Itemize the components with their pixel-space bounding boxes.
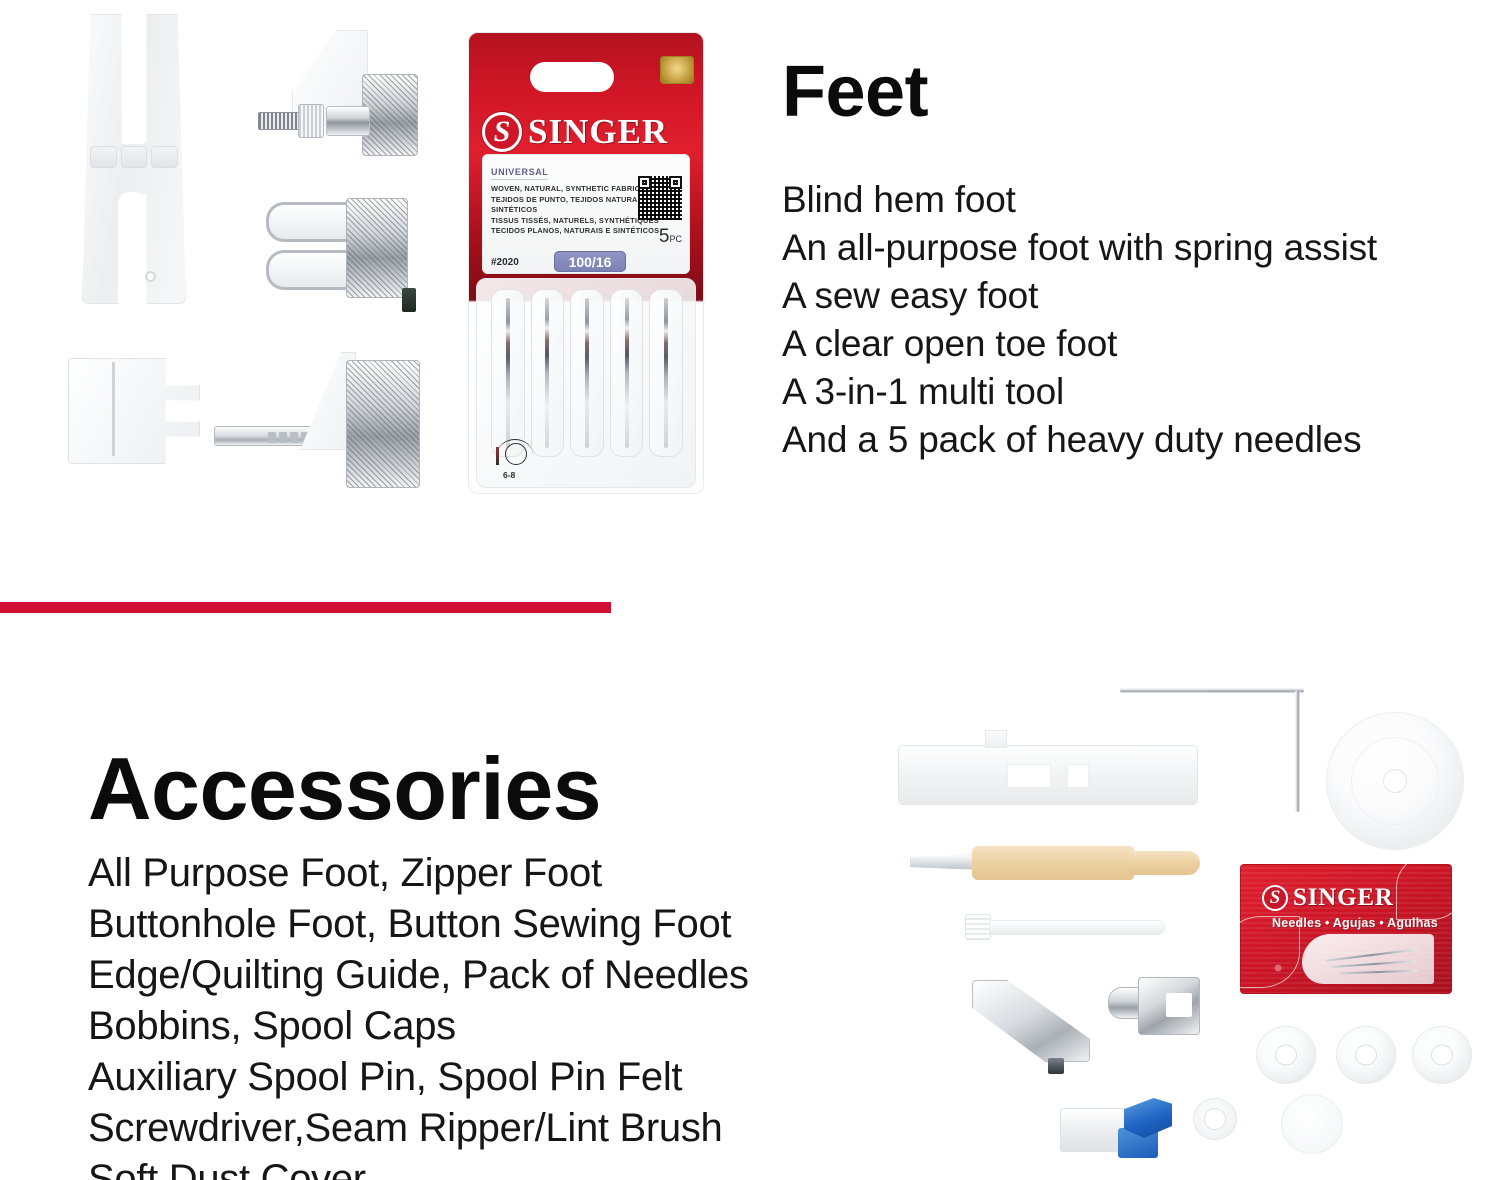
- buttonhole-foot-tab: [985, 730, 1007, 748]
- feet-section: Feet: [782, 56, 928, 128]
- envelope-subtitle: Needles • Agujas • Agulhas: [1272, 916, 1438, 930]
- feet-title: Feet: [782, 56, 928, 128]
- accessories-list-item: Buttonhole Foot, Button Sewing Foot: [88, 899, 749, 950]
- spool-pin-image: [1208, 686, 1304, 818]
- blind-hem-guide-screw: [402, 288, 416, 312]
- needle-image: [545, 298, 549, 448]
- screwdriver-handle: [972, 846, 1134, 880]
- feet-list-item: And a 5 pack of heavy duty needles: [782, 416, 1377, 464]
- qr-code-icon: [638, 176, 682, 220]
- speed-icon-label: 6-8: [503, 470, 515, 480]
- buttonhole-foot-image: [898, 745, 1198, 805]
- accessories-section: Accessories: [88, 745, 601, 833]
- spring-foot-shank: [326, 106, 370, 136]
- singer-s-mark: S: [1262, 885, 1288, 911]
- multi-tool-lower-slot: [118, 192, 146, 304]
- needle-slot: [649, 289, 683, 457]
- fabric-line-pt: TECIDOS PLANOS, NATURAIS E SINTÉTICOS: [491, 226, 681, 237]
- singer-s-mark: S: [482, 112, 522, 152]
- blind-hem-upper-clip: [266, 202, 352, 242]
- package-hang-hole: [530, 62, 614, 92]
- spring-foot-thumbwheel: [298, 104, 324, 138]
- package-label: UNIVERSAL WOVEN, NATURAL, SYNTHETIC FABR…: [482, 154, 690, 274]
- clear-foot-body: [68, 358, 200, 464]
- button-foot-window: [1166, 993, 1192, 1017]
- buttonhole-foot-window: [1007, 764, 1051, 788]
- singer-wordmark: SINGER: [528, 112, 668, 152]
- feet-list-item: A sew easy foot: [782, 272, 1377, 320]
- spool-pin-long-arm: [1120, 688, 1212, 693]
- screwdriver-image: [910, 842, 1200, 886]
- accessories-title: Accessories: [88, 745, 601, 833]
- bobbin-image: [1336, 1026, 1396, 1084]
- needle-slot: [491, 289, 525, 457]
- blind-hem-lower-clip: [266, 250, 352, 290]
- zipper-foot-body: [972, 980, 1090, 1062]
- spool-pin-vertical-arm: [1295, 690, 1300, 812]
- infographic-page: S SINGER UNIVERSAL WOVEN, NATURAL, SYNTH…: [0, 0, 1500, 1180]
- needle-slot: [570, 289, 604, 457]
- multi-tool-image: [82, 14, 186, 304]
- feet-list-item: Blind hem foot: [782, 176, 1377, 224]
- accessories-list-item: Screwdriver,Seam Ripper/Lint Brush: [88, 1103, 749, 1154]
- needle-package-image: S SINGER UNIVERSAL WOVEN, NATURAL, SYNTH…: [468, 32, 704, 494]
- feet-list-item: A 3-in-1 multi tool: [782, 368, 1377, 416]
- needle-slot-row: [491, 289, 683, 457]
- seam-ripper-image: [1060, 1098, 1180, 1160]
- needle-image: [585, 298, 589, 448]
- needle-count-value: 5: [659, 226, 670, 247]
- needle-envelope-image: S SINGER Needles • Agujas • Agulhas: [1240, 864, 1452, 994]
- accessories-list: All Purpose Foot, Zipper Foot Buttonhole…: [88, 848, 749, 1180]
- accessories-list-item: Edge/Quilting Guide, Pack of Needles: [88, 950, 749, 1001]
- multi-tool-hole: [145, 271, 156, 282]
- singer-wordmark: SINGER: [1293, 884, 1394, 912]
- multi-tool-ridges: [90, 146, 178, 168]
- section-divider: [0, 602, 611, 613]
- spring-foot-sole: [362, 74, 418, 156]
- quality-seal-icon: [660, 56, 694, 84]
- needle-slot: [531, 289, 565, 457]
- zipper-foot-stem: [1048, 1058, 1064, 1074]
- clear-foot-center-line: [112, 362, 115, 456]
- auxiliary-spool-pin-image: [965, 912, 1165, 942]
- clock-face-icon: [505, 443, 527, 465]
- spool-pin-felt-image: [1193, 1098, 1237, 1140]
- spool-pin-top-arm: [1208, 688, 1304, 693]
- needle-image: [664, 298, 668, 448]
- guide-foot-sole: [346, 360, 420, 488]
- needle-count-unit: PC: [669, 234, 682, 244]
- blind-hem-sole: [346, 198, 408, 298]
- seam-ripper-blue-cap: [1124, 1098, 1172, 1138]
- needle-type-label: UNIVERSAL: [491, 167, 548, 180]
- envelope-needle: [1326, 948, 1418, 961]
- small-needle-icon: [496, 447, 499, 465]
- spring-foot-screw: [258, 112, 300, 130]
- spool-cap-image: [1326, 712, 1464, 850]
- guide-foot-texture: [347, 361, 419, 487]
- feet-list-item: An all-purpose foot with spring assist: [782, 224, 1377, 272]
- envelope-singer-logo: S SINGER: [1262, 884, 1394, 912]
- multi-tool-upper-slot: [122, 14, 144, 144]
- feet-list: Blind hem foot An all-purpose foot with …: [782, 176, 1377, 464]
- spring-foot-texture: [363, 75, 417, 155]
- accessories-list-item: Auxiliary Spool Pin, Spool Pin Felt: [88, 1052, 749, 1103]
- blind-hem-foot-image: [262, 196, 418, 328]
- needle-image: [506, 298, 510, 448]
- needle-part-number: #2020: [491, 257, 519, 268]
- spool-pin-flange: [965, 914, 991, 940]
- needle-size-badge: 100/16: [554, 251, 626, 272]
- envelope-needle: [1332, 960, 1416, 968]
- white-disc-image: [1281, 1094, 1343, 1154]
- zipper-foot-image: [972, 980, 1090, 1062]
- screwdriver-handle-end: [1128, 851, 1200, 875]
- package-singer-logo: S SINGER: [482, 110, 688, 154]
- clear-open-toe-foot-image: [68, 358, 200, 464]
- envelope-needle-window: [1302, 934, 1434, 984]
- accessories-list-item: Bobbins, Spool Caps: [88, 1001, 749, 1052]
- spool-pin-shaft: [989, 920, 1165, 935]
- feet-list-item: A clear open toe foot: [782, 320, 1377, 368]
- button-sewing-foot-image: [1108, 975, 1200, 1041]
- needle-speed-icon: 6-8: [493, 439, 537, 479]
- open-toe-guide-foot-image: [212, 352, 422, 492]
- bobbin-image: [1412, 1026, 1472, 1084]
- needle-blister-tray: 6-8: [476, 278, 696, 488]
- envelope-flourish-icon: [1396, 864, 1452, 920]
- needle-image: [625, 298, 629, 448]
- needle-slot: [610, 289, 644, 457]
- spring-assist-foot-image: [258, 28, 418, 158]
- buttonhole-foot-slot: [1067, 764, 1089, 788]
- accessories-list-item: Soft Dust Cover: [88, 1154, 749, 1180]
- blind-hem-texture: [347, 199, 407, 297]
- needle-count: 5PC: [659, 226, 682, 248]
- bobbin-image: [1256, 1026, 1316, 1084]
- envelope-needle: [1340, 970, 1418, 975]
- accessories-list-item: All Purpose Foot, Zipper Foot: [88, 848, 749, 899]
